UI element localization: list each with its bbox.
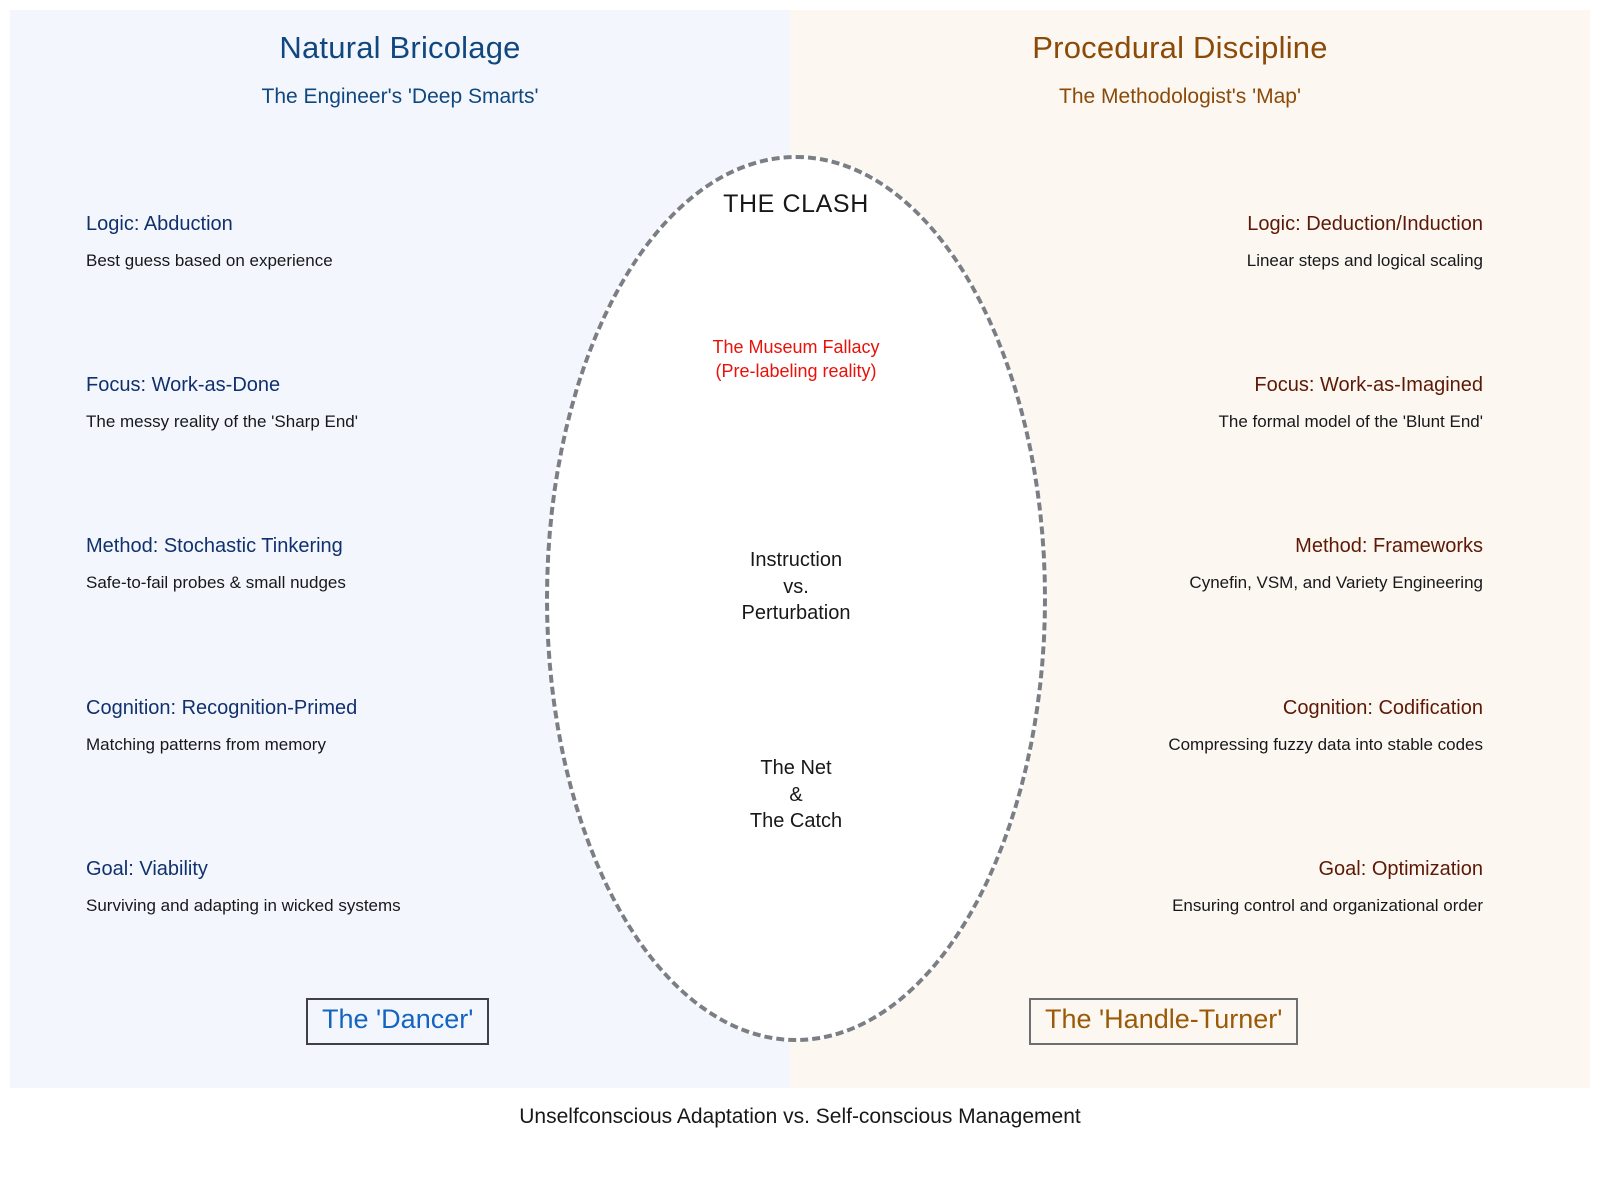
archetype-badge-dancer: The 'Dancer' <box>306 998 489 1045</box>
tension-instruction-perturbation: Instruction vs. Perturbation <box>545 547 1047 627</box>
tension-line-net: The Net <box>545 755 1047 782</box>
left-row-desc: The messy reality of the 'Sharp End' <box>86 413 556 432</box>
left-row-label: Goal: Viability <box>86 858 556 880</box>
left-column-header: Natural Bricolage The Engineer's 'Deep S… <box>10 30 790 109</box>
right-row-cognition: Cognition: Codification Compressing fuzz… <box>1013 697 1483 755</box>
right-row-label: Cognition: Codification <box>1013 697 1483 719</box>
left-row-method: Method: Stochastic Tinkering Safe-to-fai… <box>86 535 556 593</box>
right-row-label: Focus: Work-as-Imagined <box>1013 374 1483 396</box>
right-row-goal: Goal: Optimization Ensuring control and … <box>1013 858 1483 916</box>
left-row-focus: Focus: Work-as-Done The messy reality of… <box>86 374 556 432</box>
diagram-canvas: Natural Bricolage The Engineer's 'Deep S… <box>0 0 1600 1197</box>
tension-line-catch: The Catch <box>545 808 1047 835</box>
left-row-label: Method: Stochastic Tinkering <box>86 535 556 557</box>
archetype-badge-handle-turner: The 'Handle-Turner' <box>1029 998 1298 1045</box>
right-row-logic: Logic: Deduction/Induction Linear steps … <box>1013 213 1483 271</box>
museum-fallacy-note: The Museum Fallacy (Pre-labeling reality… <box>545 336 1047 384</box>
left-row-cognition: Cognition: Recognition-Primed Matching p… <box>86 697 556 755</box>
left-row-desc: Surviving and adapting in wicked systems <box>86 897 556 916</box>
left-row-desc: Safe-to-fail probes & small nudges <box>86 574 556 593</box>
left-row-label: Cognition: Recognition-Primed <box>86 697 556 719</box>
left-row-desc: Best guess based on experience <box>86 252 556 271</box>
museum-fallacy-line-2: (Pre-labeling reality) <box>545 360 1047 384</box>
right-row-label: Logic: Deduction/Induction <box>1013 213 1483 235</box>
tension-line-instruction: Instruction <box>545 547 1047 574</box>
right-row-desc: Compressing fuzzy data into stable codes <box>1013 736 1483 755</box>
right-row-desc: Linear steps and logical scaling <box>1013 252 1483 271</box>
right-row-label: Method: Frameworks <box>1013 535 1483 557</box>
tension-line-vs: vs. <box>545 574 1047 601</box>
left-row-goal: Goal: Viability Surviving and adapting i… <box>86 858 556 916</box>
right-row-desc: The formal model of the 'Blunt End' <box>1013 413 1483 432</box>
right-row-focus: Focus: Work-as-Imagined The formal model… <box>1013 374 1483 432</box>
tension-line-perturbation: Perturbation <box>545 600 1047 627</box>
right-column-header: Procedural Discipline The Methodologist'… <box>790 30 1570 109</box>
footer-caption: Unselfconscious Adaptation vs. Self-cons… <box>0 1105 1600 1129</box>
right-row-label: Goal: Optimization <box>1013 858 1483 880</box>
left-row-label: Focus: Work-as-Done <box>86 374 556 396</box>
right-row-method: Method: Frameworks Cynefin, VSM, and Var… <box>1013 535 1483 593</box>
left-row-logic: Logic: Abduction Best guess based on exp… <box>86 213 556 271</box>
museum-fallacy-line-1: The Museum Fallacy <box>545 336 1047 360</box>
clash-title: THE CLASH <box>545 190 1047 219</box>
left-column-title: Natural Bricolage <box>10 30 790 66</box>
left-row-desc: Matching patterns from memory <box>86 736 556 755</box>
left-row-label: Logic: Abduction <box>86 213 556 235</box>
right-row-desc: Cynefin, VSM, and Variety Engineering <box>1013 574 1483 593</box>
tension-net-catch: The Net & The Catch <box>545 755 1047 835</box>
right-column-title: Procedural Discipline <box>790 30 1570 66</box>
tension-line-ampersand: & <box>545 782 1047 809</box>
right-column-subtitle: The Methodologist's 'Map' <box>790 85 1570 109</box>
right-row-desc: Ensuring control and organizational orde… <box>1013 897 1483 916</box>
left-column-subtitle: The Engineer's 'Deep Smarts' <box>10 85 790 109</box>
